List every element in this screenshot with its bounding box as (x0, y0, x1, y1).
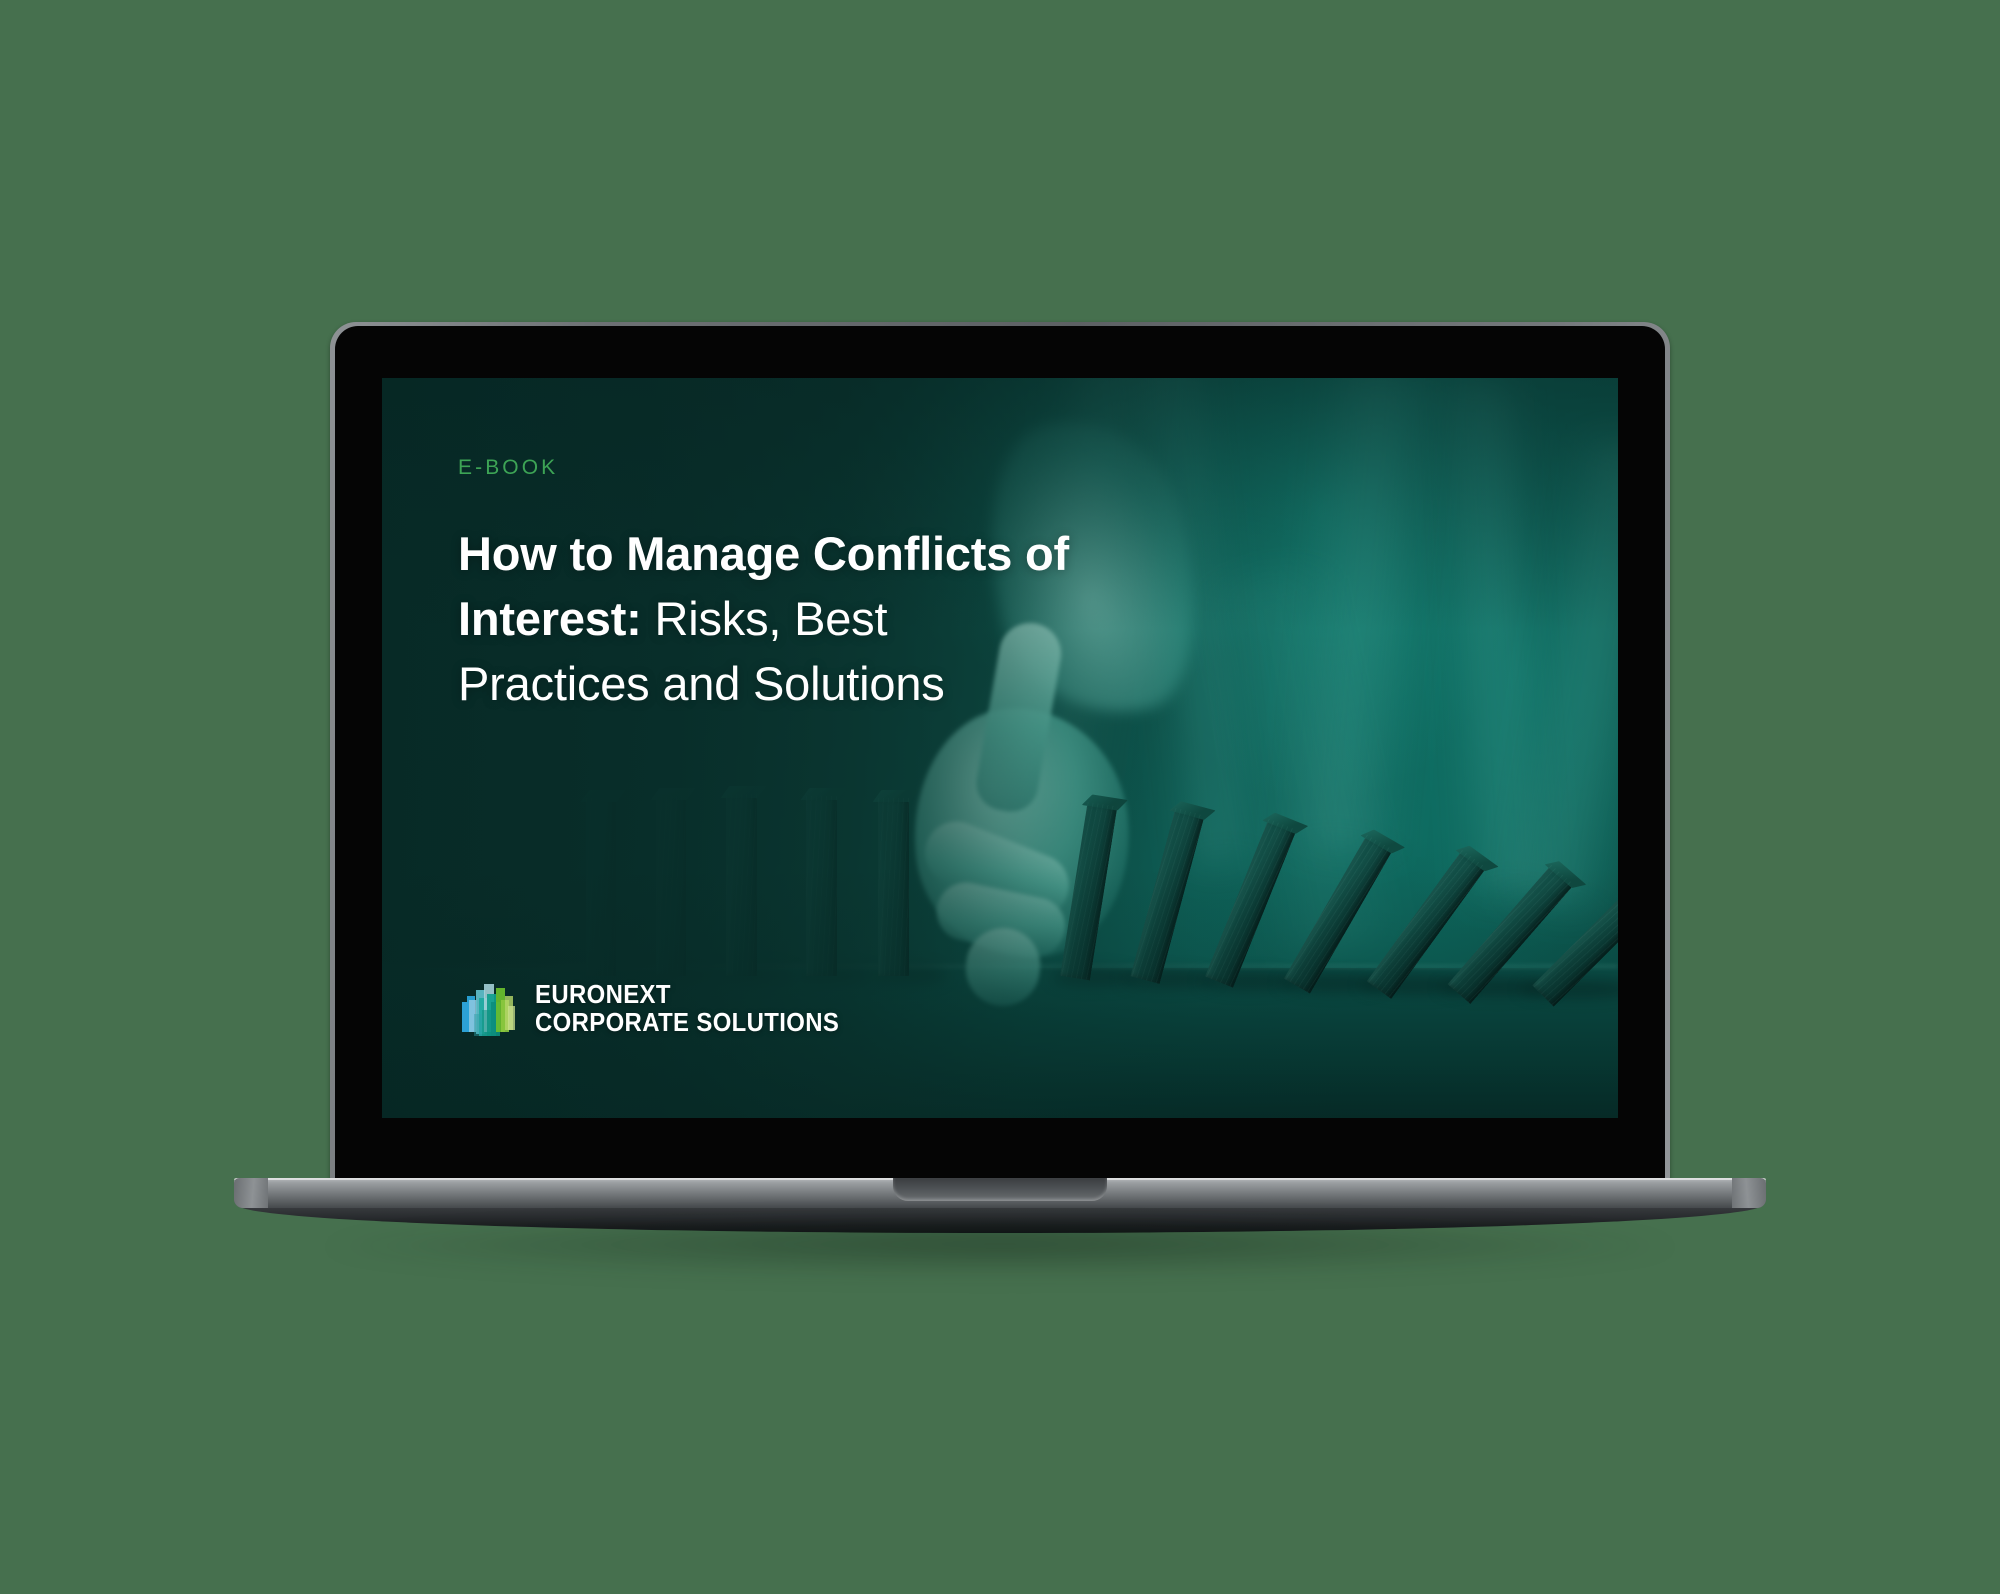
laptop-bezel: E-BOOK How to Manage Conflicts of Intere… (335, 326, 1665, 1182)
page-title: How to Manage Conflicts of Interest: Ris… (458, 522, 1078, 717)
euronext-bars-logo-mark-icon (458, 978, 520, 1040)
euronext-logo-text: EURONEXT CORPORATE SOLUTIONS (535, 981, 839, 1037)
logo-line-2: CORPORATE SOLUTIONS (535, 1007, 839, 1037)
euronext-logo: EURONEXT CORPORATE SOLUTIONS (458, 978, 866, 1040)
laptop-base (234, 1178, 1766, 1248)
drop-shadow (318, 1222, 1682, 1276)
laptop-deck (234, 1178, 1766, 1208)
screen-content: E-BOOK How to Manage Conflicts of Intere… (382, 378, 1618, 1118)
laptop-mockup: E-BOOK How to Manage Conflicts of Intere… (330, 322, 1670, 1222)
laptop-lid: E-BOOK How to Manage Conflicts of Intere… (330, 322, 1670, 1182)
cover-copy-block: E-BOOK How to Manage Conflicts of Intere… (458, 456, 1078, 717)
eyebrow-label: E-BOOK (458, 456, 1078, 480)
logo-line-1: EURONEXT (535, 979, 671, 1009)
laptop-opening-notch (893, 1178, 1107, 1201)
